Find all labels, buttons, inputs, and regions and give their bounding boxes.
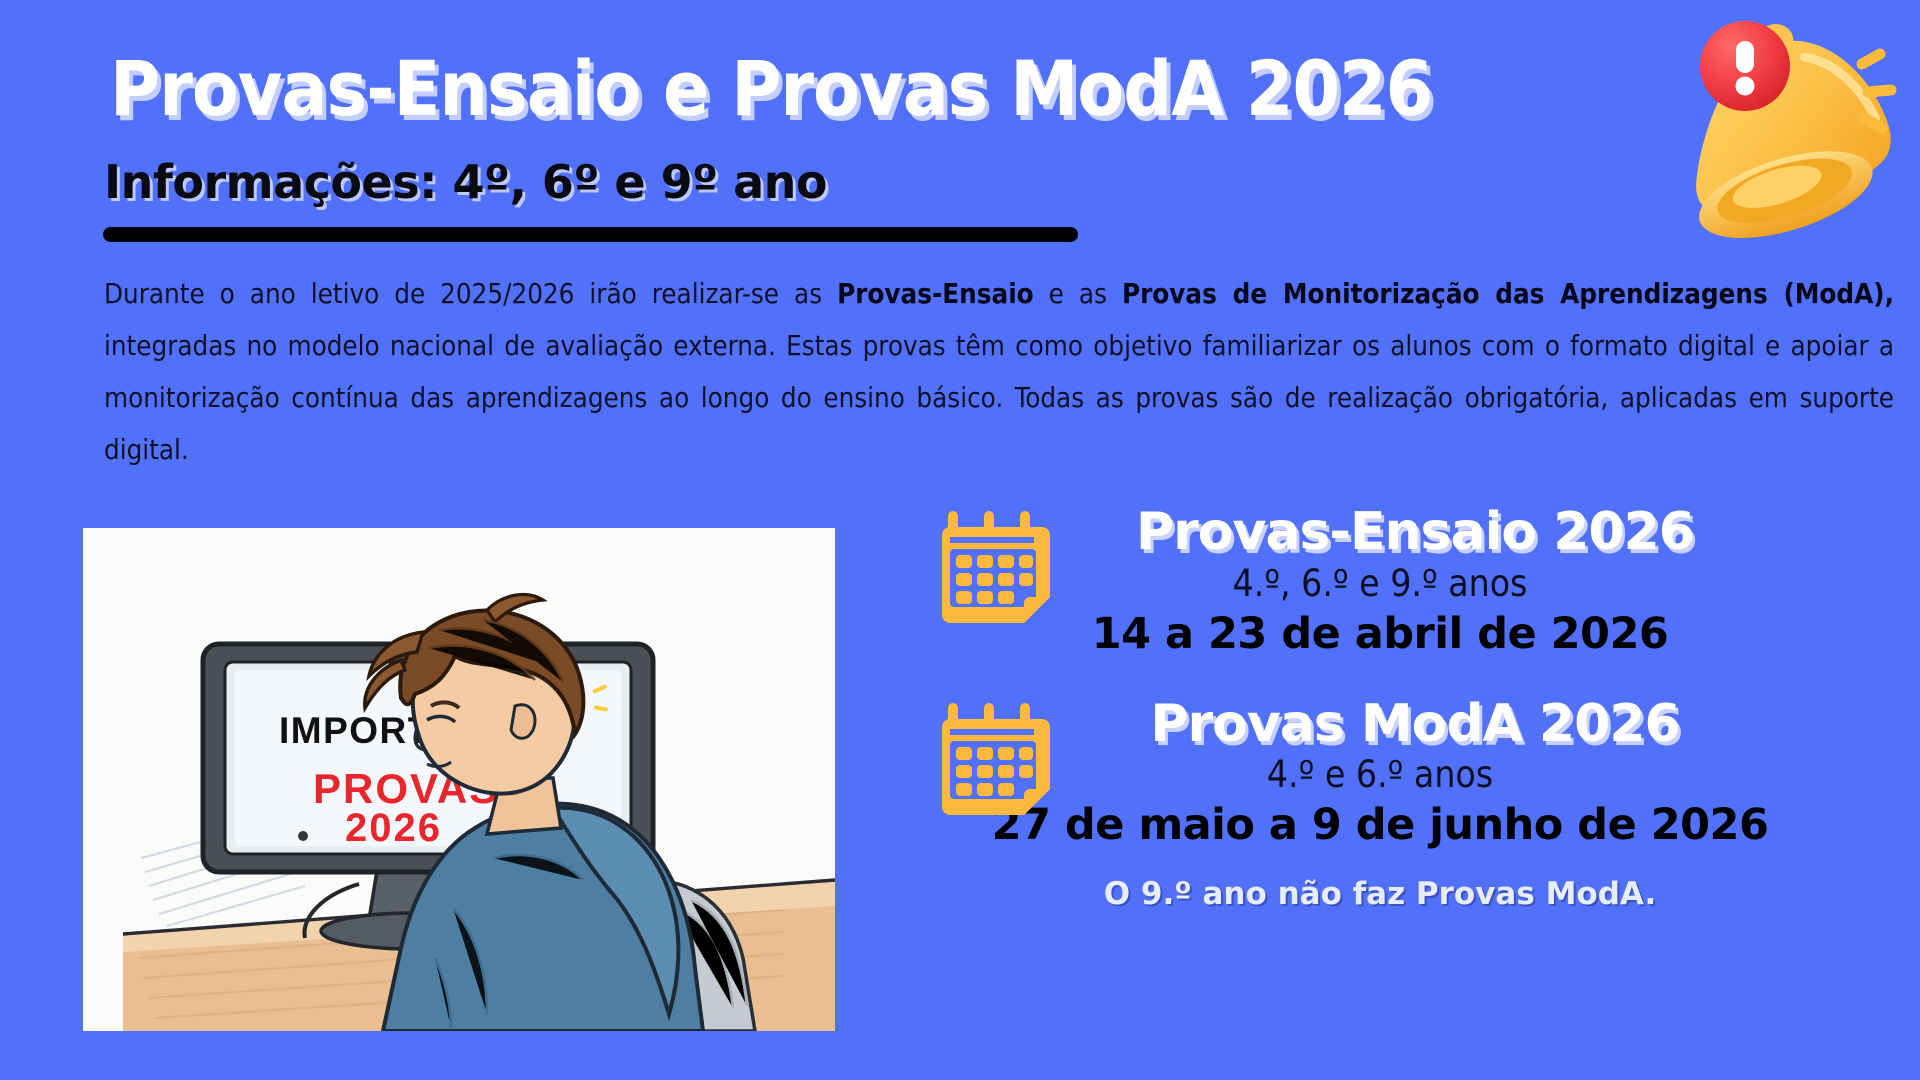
illustration-card: IMPORTANTE PROVAS 2026 [83, 528, 835, 1031]
intro-bold-provas-ensaio: Provas-Ensaio [837, 278, 1034, 310]
schedule-column: Provas-Ensaio 2026 4.º, 6.º e 9.º anos 1… [880, 505, 1880, 912]
title-underline-bar [103, 227, 1078, 242]
alert-badge [1700, 21, 1790, 111]
schedule-block-provas-ensaio: Provas-Ensaio 2026 4.º, 6.º e 9.º anos 1… [880, 505, 1880, 659]
calendar-icon [936, 509, 1054, 627]
student-at-computer-illustration: IMPORTANTE PROVAS 2026 [83, 528, 835, 1031]
schedule-block-provas-moda: Provas ModA 2026 4.º e 6.º anos 27 de ma… [880, 697, 1880, 851]
intro-paragraph: Durante o ano letivo de 2025/2026 irão r… [104, 268, 1894, 476]
alert-bell-icon [1648, 8, 1908, 238]
intro-bold-moda: Provas de Monitorização das Aprendizagen… [1122, 278, 1894, 310]
header-block: Provas-Ensaio e Provas ModA 2026 Informa… [0, 0, 1920, 250]
screen-line2: 2026 [345, 806, 442, 850]
intro-part1: Durante o ano letivo de 2025/2026 irão r… [104, 278, 837, 310]
calendar-icon [936, 701, 1054, 819]
intro-part2: e as [1034, 278, 1122, 310]
intro-part3: integradas no modelo nacional de avaliaç… [104, 330, 1894, 466]
page-title: Provas-Ensaio e Provas ModA 2026 [110, 44, 1432, 133]
moda-exclusion-note: O 9.º ano não faz Provas ModA. [880, 876, 1880, 912]
page-subtitle: Informações: 4º, 6º e 9º ano [104, 155, 827, 209]
